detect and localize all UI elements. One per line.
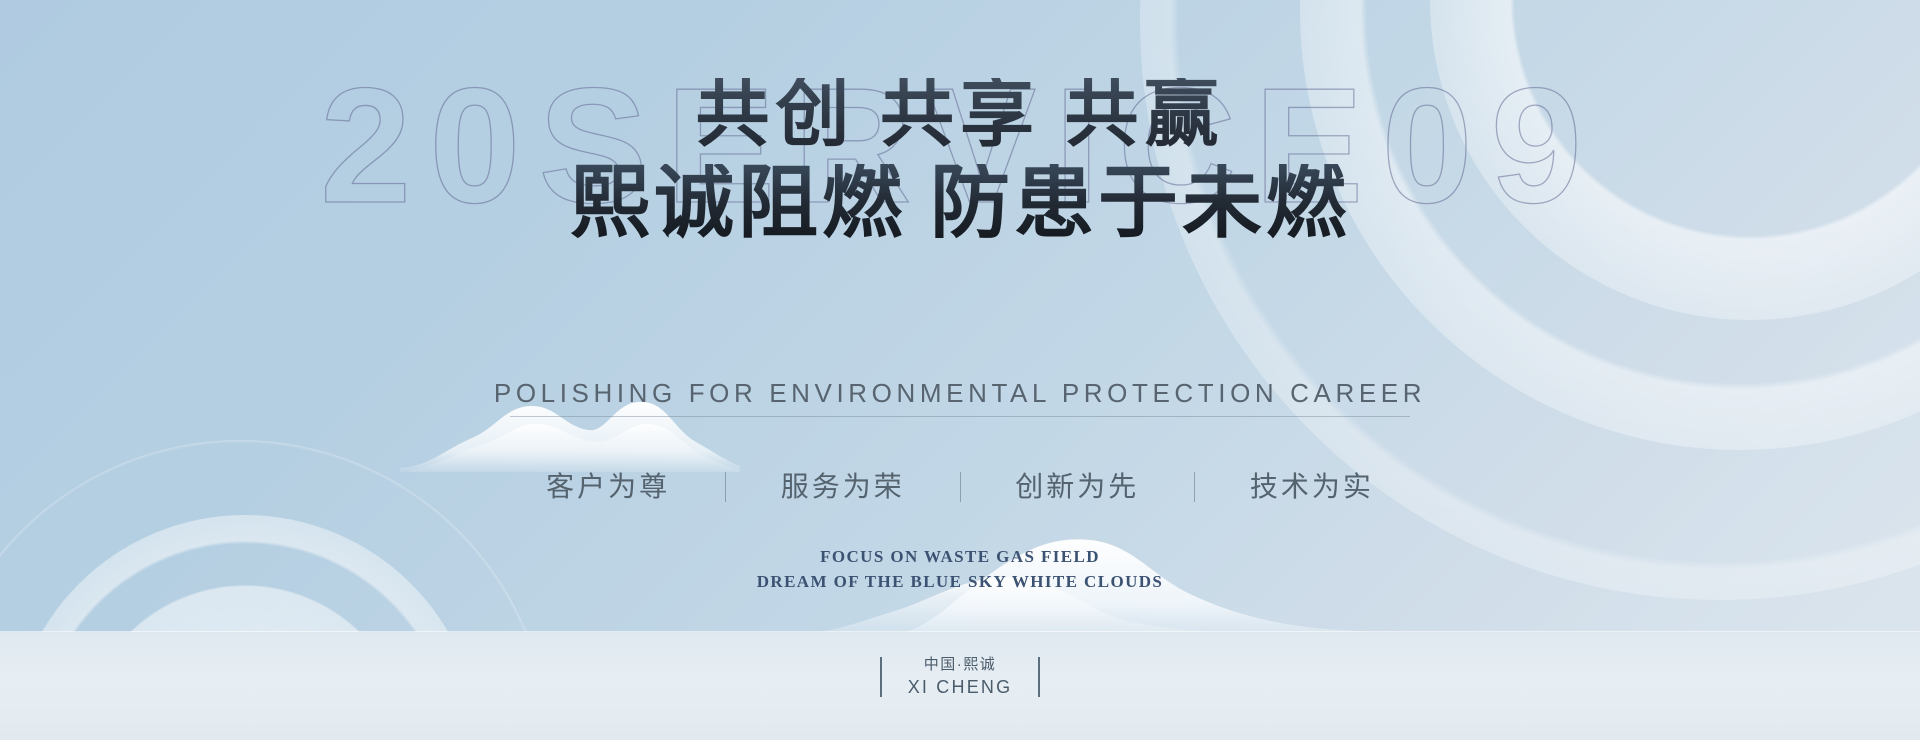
logo-divider-left <box>880 657 882 697</box>
value-separator-3 <box>1194 472 1195 502</box>
values-row: 客户为尊 服务为荣 创新为先 技术为实 <box>0 465 1920 505</box>
english-tagline-block: POLISHING FOR ENVIRONMENTAL PROTECTION C… <box>0 378 1920 417</box>
value-separator-1 <box>725 472 726 502</box>
serif-tagline-line-1: FOCUS ON WASTE GAS FIELD <box>0 545 1920 570</box>
logo-divider-right <box>1038 657 1040 697</box>
headline-block: 共创 共享 共赢 熙诚阻燃 防患于未燃 <box>0 78 1920 244</box>
value-separator-2 <box>960 472 961 502</box>
headline-line-1: 共创 共享 共赢 <box>0 78 1920 158</box>
value-item-1: 客户为尊 <box>540 465 676 505</box>
value-item-2: 服务为荣 <box>775 465 911 505</box>
logo-english-name: XI CHENG <box>908 675 1013 699</box>
serif-tagline-line-2: DREAM OF THE BLUE SKY WHITE CLOUDS <box>0 570 1920 595</box>
logo-chinese-name: 中国·熙诚 <box>908 655 1013 675</box>
serif-tagline-block: FOCUS ON WASTE GAS FIELD DREAM OF THE BL… <box>0 545 1920 594</box>
tagline-underline <box>510 416 1410 417</box>
value-item-3: 创新为先 <box>1009 465 1145 505</box>
brand-logo: 中国·熙诚 XI CHENG <box>0 655 1920 702</box>
english-tagline-text: POLISHING FOR ENVIRONMENTAL PROTECTION C… <box>494 378 1426 408</box>
headline-line-2: 熙诚阻燃 防患于未燃 <box>0 164 1920 244</box>
value-item-4: 技术为实 <box>1244 465 1380 505</box>
promotional-banner: 20SERVICE09 共创 共享 共赢 熙诚阻燃 防患于未燃 POLISHIN… <box>0 0 1920 740</box>
